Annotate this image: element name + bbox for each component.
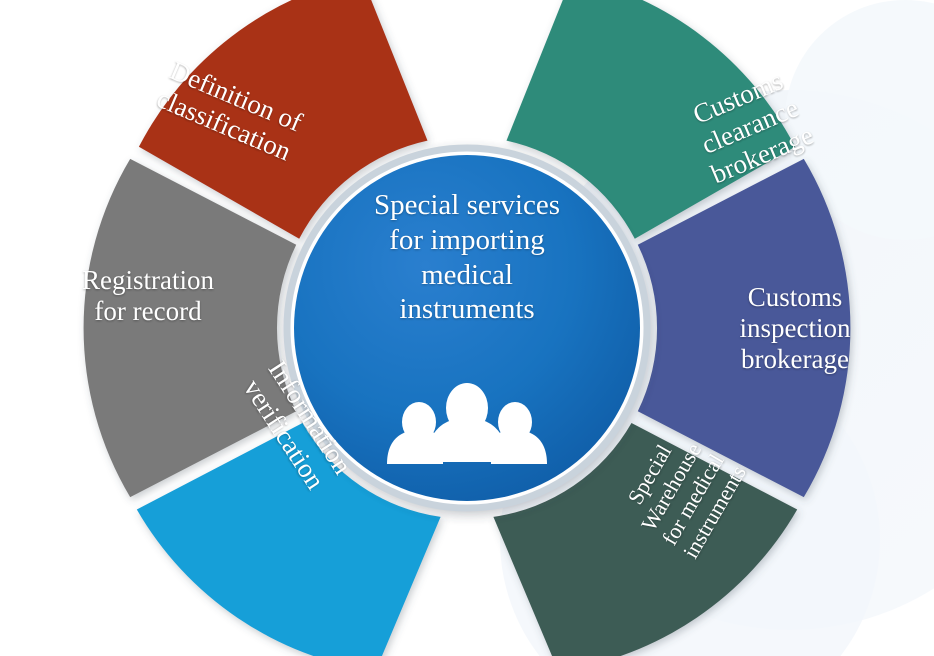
hub-title: Special services for importing medical i… [327, 188, 607, 327]
radial-diagram-svg [0, 0, 934, 656]
diagram-canvas: Special services for importing medical i… [0, 0, 934, 656]
